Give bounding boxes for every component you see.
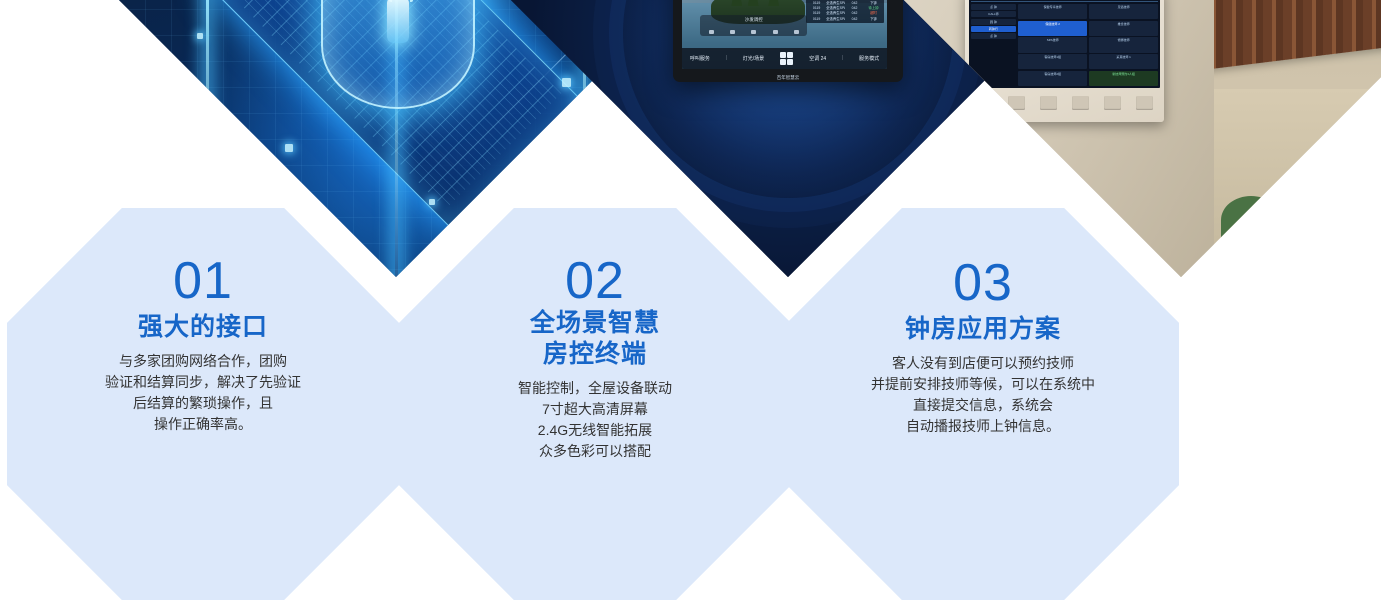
card-desc-line: 与多家团购网络合作，团购 (105, 351, 301, 372)
panel-left-button[interactable]: 点 钟 (971, 4, 1016, 10)
media-label: 沙发调控 (745, 17, 763, 23)
media-power-icon[interactable] (794, 30, 799, 34)
card-desc-line: 直接提交信息，系统会 (871, 395, 1095, 416)
card-desc-line: 众多色彩可以搭配 (518, 441, 672, 462)
media-play-icon[interactable] (730, 30, 735, 34)
card-title-line: 全场景智慧 (530, 308, 660, 339)
spark-dot (285, 144, 293, 152)
nav-divider: | (726, 55, 727, 61)
card-title: 钟房应用方案 (905, 314, 1061, 345)
apps-grid-icon[interactable] (780, 52, 794, 66)
panel-button[interactable] (1040, 96, 1057, 110)
table-row: 0119全选养生SPA042下钟 (807, 17, 883, 22)
panel-left-button[interactable]: 圆 钟 (971, 19, 1016, 25)
panel-left-buttons[interactable]: 点 钟 CALL师 圆 钟 转钟行 点 钟 (971, 4, 1016, 86)
card-desc-line: 智能控制，全屋设备联动 (518, 378, 672, 399)
spark-dot (562, 78, 571, 87)
media-next-icon[interactable] (751, 30, 756, 34)
card-desc-line: 验证和结算同步，解决了先验证 (105, 372, 301, 393)
card-title-line: 房控终端 (530, 339, 660, 370)
panel-hardware-buttons[interactable] (969, 88, 1160, 118)
card-description: 与多家团购网络合作，团购 验证和结算同步，解决了先验证 后结算的繁琐操作，且 操… (105, 351, 301, 435)
panel-cell[interactable]: 推拿技师 (1089, 21, 1159, 36)
nav-item-call-service[interactable]: 呼叫服务 (690, 55, 710, 62)
control-panel-device[interactable]: 客服控制 点 钟 CALL师 圆 钟 转钟行 点 钟 保健专享技师 (965, 0, 1164, 122)
panel-cell[interactable]: 客房技师2组 (1018, 71, 1088, 86)
panel-left-button[interactable]: CALL师 (971, 11, 1016, 17)
card-desc-line: 2.4G无线智能拓展 (518, 420, 672, 441)
panel-cell-selected[interactable]: 保健技师 2 (1018, 21, 1088, 36)
panel-screen[interactable]: 客服控制 点 钟 CALL师 圆 钟 转钟行 点 钟 保健专享技师 (969, 0, 1160, 88)
spark-dot (429, 199, 435, 205)
card-desc-line: 7寸超大高清屏幕 (518, 399, 672, 420)
card-number: 03 (953, 256, 1013, 310)
media-volume-icon[interactable] (773, 30, 778, 34)
card-description: 智能控制，全屋设备联动 7寸超大高清屏幕 2.4G无线智能拓展 众多色彩可以搭配 (518, 378, 672, 462)
nav-item-service-mode[interactable]: 服务模式 (859, 55, 879, 62)
tablet-device: CSI2BO 设置 (673, 0, 903, 82)
feature-diamond-banner: CSI2BO 设置 (0, 0, 1381, 603)
panel-button[interactable] (1008, 96, 1025, 110)
panel-cell[interactable]: 修脚技师 (1089, 37, 1159, 52)
plant (1221, 196, 1281, 244)
panel-cell[interactable]: 保健专享技师 (1018, 4, 1088, 19)
card-title: 强大的接口 (138, 312, 268, 343)
nav-item-aircon[interactable]: 空调 24 (809, 55, 826, 62)
panel-left-button[interactable]: 点 钟 (971, 33, 1016, 39)
card-desc-line: 并提前安排技师等候，可以在系统中 (871, 374, 1095, 395)
panel-cell[interactable]: 采耳技师 1 (1089, 54, 1159, 69)
media-control-bar[interactable]: 沙发调控 (700, 15, 807, 36)
panel-technician-grid[interactable]: 保健专享技师 足浴技师 保健技师 2 推拿技师 SPA技师 修脚技师 客房技师1… (1018, 4, 1158, 86)
spark-dot (197, 33, 203, 39)
card-number: 01 (173, 254, 233, 308)
card-title: 全场景智慧 房控终端 (530, 308, 660, 370)
card-description: 客人没有到店便可以预约技师 并提前安排技师等候，可以在系统中 直接提交信息，系统… (871, 353, 1095, 437)
service-table: 帐入 项目 技师 状态 0119全选养生SPA042下钟 0119正气行全身精护… (806, 0, 884, 23)
panel-button[interactable] (1072, 96, 1089, 110)
panel-button[interactable] (1136, 96, 1153, 110)
plant (1312, 199, 1381, 273)
card-desc-line: 操作正确率高。 (105, 414, 301, 435)
card-desc-line: 后结算的繁琐操作，且 (105, 393, 301, 414)
tablet-nav-bar[interactable]: 呼叫服务 | 灯光/场景 空调 24 | 服务模式 (682, 48, 887, 69)
clock-widget: 22:35 SPA6房 24 11/24 帐入 项目 技师 (806, 0, 884, 23)
panel-button[interactable] (1104, 96, 1121, 110)
panel-cell-alert[interactable]: 新技师预约3人组 (1089, 71, 1159, 86)
courtyard-floor (1203, 89, 1381, 277)
card-desc-line: 客人没有到店便可以预约技师 (871, 353, 1095, 374)
nav-item-lighting[interactable]: 灯光/场景 (743, 55, 764, 62)
media-prev-icon[interactable] (709, 30, 714, 34)
panel-button[interactable] (976, 96, 993, 110)
tablet-brand-label: 百年智慧云 (673, 75, 903, 81)
panel-left-button[interactable]: 转钟行 (971, 26, 1016, 32)
panel-cell[interactable]: 足浴技师 (1089, 4, 1159, 19)
panel-cell[interactable]: 客房技师1组 (1018, 54, 1088, 69)
panel-cell[interactable]: SPA技师 (1018, 37, 1088, 52)
nav-divider: | (842, 55, 843, 61)
tablet-screen[interactable]: 22:35 SPA6房 24 11/24 帐入 项目 技师 (682, 0, 887, 69)
card-desc-line: 自动播报技师上钟信息。 (871, 416, 1095, 437)
card-number: 02 (565, 254, 625, 308)
